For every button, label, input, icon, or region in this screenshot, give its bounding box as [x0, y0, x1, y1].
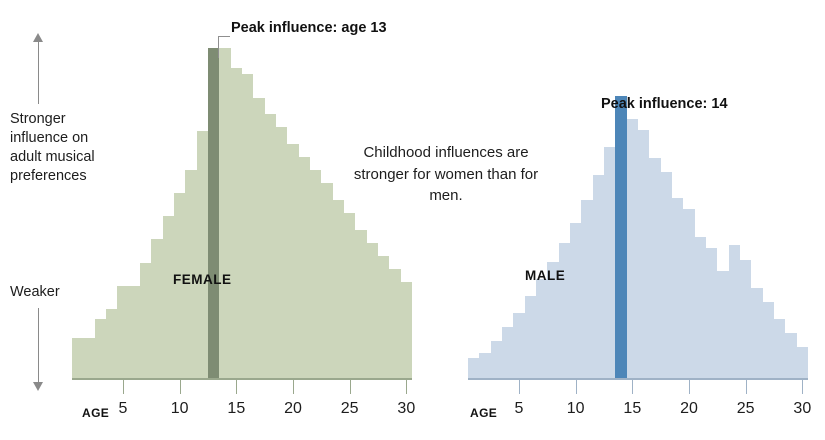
- bar: [536, 279, 547, 378]
- x-axis-tick: [180, 380, 181, 394]
- x-axis-tick-label: 15: [227, 400, 245, 418]
- bar: [502, 327, 513, 378]
- bar: [151, 239, 162, 378]
- bar: [649, 158, 660, 378]
- bar: [774, 319, 785, 378]
- bar-highlight: [615, 96, 626, 378]
- plot-area-female: [72, 48, 412, 378]
- center-caption: Childhood influences are stronger for wo…: [352, 142, 540, 207]
- bar: [276, 127, 287, 378]
- peak-annotation-male: Peak influence: 14: [601, 96, 728, 112]
- x-axis-tick-labels-male: 51015202530: [468, 400, 808, 422]
- bar: [344, 213, 355, 378]
- down-arrow-line: [38, 308, 39, 383]
- x-axis-tick-label: 25: [737, 400, 755, 418]
- bar: [627, 119, 638, 378]
- bar: [672, 198, 683, 378]
- bar: [378, 256, 389, 378]
- bar: [287, 144, 298, 378]
- x-axis-tick-label: 5: [515, 400, 524, 418]
- x-axis-tick: [350, 380, 351, 394]
- peak-leader-line-vertical: [218, 36, 219, 58]
- bar: [785, 333, 796, 378]
- bar: [253, 98, 264, 379]
- series-label-male: MALE: [525, 268, 565, 283]
- x-axis-tick: [689, 380, 690, 394]
- bar: [310, 170, 321, 378]
- bar: [740, 260, 751, 378]
- bar: [593, 175, 604, 378]
- x-axis-tick: [293, 380, 294, 394]
- bar: [513, 313, 524, 378]
- bar: [525, 296, 536, 378]
- chart-panel-male: 51015202530 AGE MALE: [468, 0, 808, 440]
- x-axis-tick: [632, 380, 633, 394]
- up-arrow-icon: [33, 33, 43, 42]
- x-axis-tick: [746, 380, 747, 394]
- chart-panel-female: 51015202530 AGE: [72, 0, 412, 440]
- x-axis-tick-label: 10: [567, 400, 585, 418]
- x-axis-tick-label: 20: [284, 400, 302, 418]
- bar: [72, 338, 83, 378]
- bar: [265, 114, 276, 378]
- x-axis-tick: [576, 380, 577, 394]
- bar: [321, 183, 332, 378]
- x-axis-tick: [123, 380, 124, 394]
- bar: [299, 157, 310, 378]
- bar: [491, 341, 502, 378]
- up-arrow-line: [38, 42, 39, 104]
- bar: [604, 147, 615, 378]
- x-axis-tick: [236, 380, 237, 394]
- x-axis-tick: [519, 380, 520, 394]
- bar: [333, 200, 344, 378]
- x-axis-title-female: AGE: [82, 406, 109, 420]
- bar: [717, 271, 728, 378]
- x-axis-tick-label: 30: [397, 400, 415, 418]
- bar: [797, 347, 808, 378]
- bar: [638, 130, 649, 378]
- series-label-female: FEMALE: [173, 272, 232, 287]
- bar: [367, 243, 378, 378]
- peak-leader-line-horizontal: [218, 36, 230, 37]
- down-arrow-icon: [33, 382, 43, 391]
- x-axis-tick-labels-female: 51015202530: [72, 400, 412, 422]
- bar: [231, 68, 242, 378]
- bar: [581, 200, 592, 378]
- x-axis-tick-label: 20: [680, 400, 698, 418]
- bar-series-male: [468, 96, 808, 378]
- x-axis-tick: [406, 380, 407, 394]
- bar: [140, 263, 151, 379]
- bar: [479, 353, 490, 378]
- x-axis-tick-label: 30: [793, 400, 811, 418]
- bar: [163, 216, 174, 378]
- x-axis-tick: [802, 380, 803, 394]
- bar: [559, 243, 570, 378]
- bar: [468, 358, 479, 378]
- x-axis-ticks-female: [72, 380, 412, 394]
- x-axis-title-male: AGE: [470, 406, 497, 420]
- bar: [751, 288, 762, 378]
- bar: [401, 282, 412, 378]
- bar: [355, 230, 366, 379]
- bar: [242, 74, 253, 378]
- x-axis-tick-label: 5: [119, 400, 128, 418]
- bar: [570, 223, 581, 378]
- bar-highlight: [208, 48, 219, 378]
- bar: [129, 286, 140, 378]
- bar: [197, 131, 208, 379]
- bar: [729, 245, 740, 378]
- bar: [83, 338, 94, 378]
- bar: [95, 319, 106, 378]
- x-axis-tick-label: 25: [341, 400, 359, 418]
- bar: [219, 48, 230, 378]
- bar: [706, 248, 717, 378]
- bar: [695, 237, 706, 378]
- bar: [683, 209, 694, 378]
- bar: [389, 269, 400, 378]
- bar-series-female: [72, 48, 412, 378]
- chart-canvas: Stronger influence on adult musical pref…: [0, 0, 825, 440]
- bar: [117, 286, 128, 378]
- x-axis-tick-label: 15: [623, 400, 641, 418]
- plot-area-male: [468, 96, 808, 378]
- x-axis-ticks-male: [468, 380, 808, 394]
- peak-annotation-female: Peak influence: age 13: [231, 20, 387, 36]
- x-axis-tick-label: 10: [171, 400, 189, 418]
- bar: [106, 309, 117, 378]
- bar: [763, 302, 774, 378]
- bar: [661, 172, 672, 378]
